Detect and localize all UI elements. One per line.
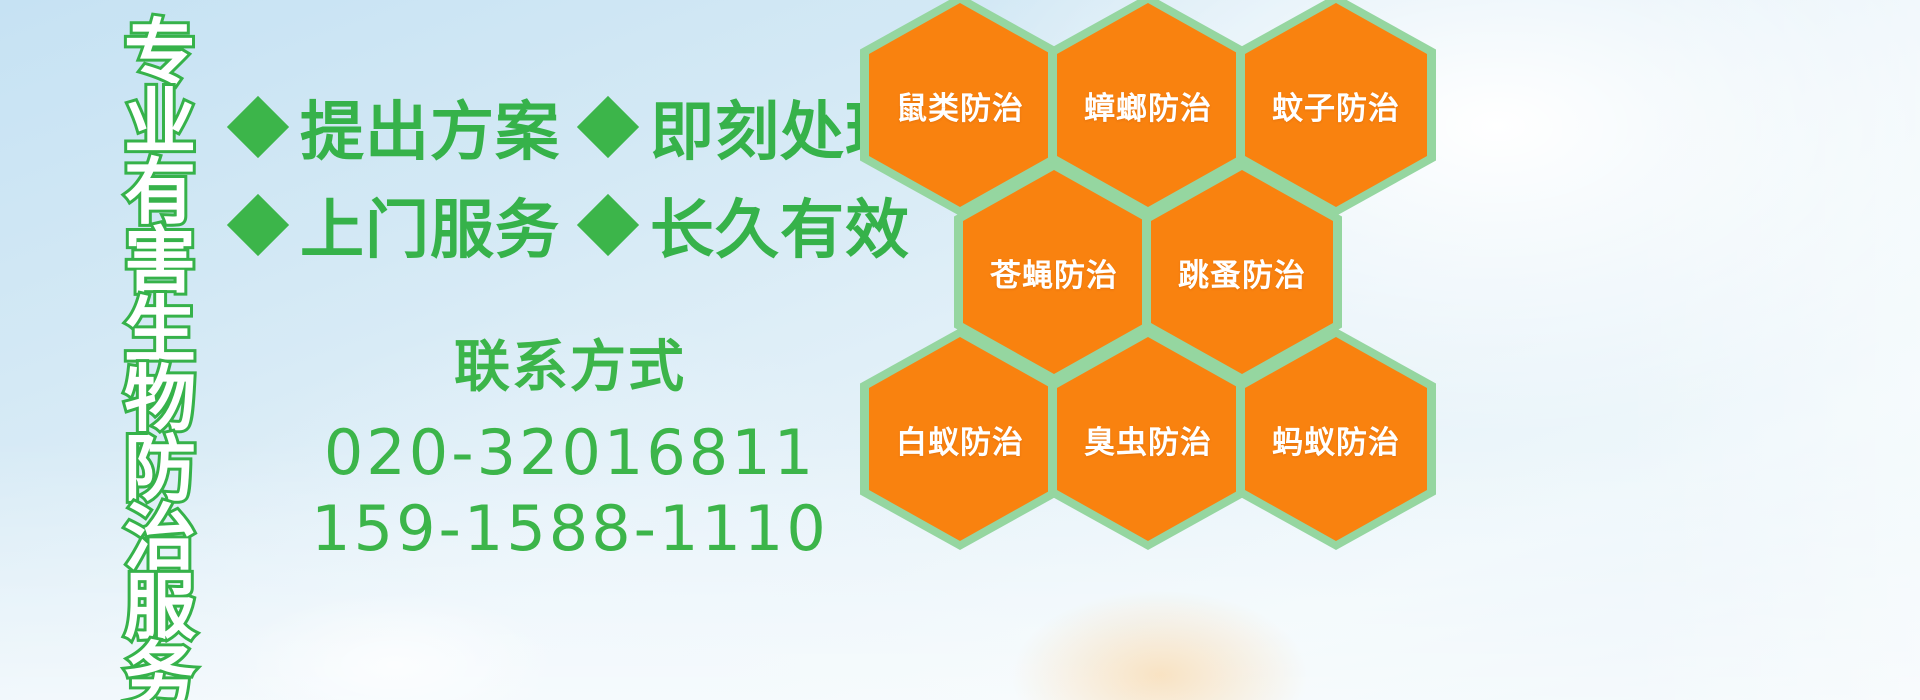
- service-hex-bedbug[interactable]: 臭虫防治: [1048, 328, 1248, 550]
- diamond-icon: [577, 194, 639, 256]
- diamond-icon: [577, 96, 639, 158]
- diamond-icon: [227, 96, 289, 158]
- vertical-title-char: 害: [124, 226, 196, 297]
- slogan-list: 提出方案 即刻处理 上门服务 长久有效: [236, 78, 876, 274]
- service-label: 鼠类防治: [896, 83, 1024, 128]
- vertical-title-char: 专: [124, 18, 196, 89]
- service-hex-termite[interactable]: 白蚁防治: [860, 328, 1060, 550]
- service-label: 白蚁防治: [896, 417, 1024, 462]
- vertical-title-char: 业: [124, 87, 196, 158]
- slogan-row: 上门服务 长久有效: [236, 176, 876, 274]
- vertical-title-char: 治: [124, 503, 196, 574]
- slogan-row: 提出方案 即刻处理: [236, 78, 876, 176]
- slogan-text: 上门服务: [300, 179, 560, 271]
- vertical-title: 专 业 有 害 生 物 防 治 服 务: [112, 18, 208, 700]
- vertical-title-char: 物: [124, 364, 196, 435]
- service-hex-ant[interactable]: 蚂蚁防治: [1236, 328, 1436, 550]
- service-label: 臭虫防治: [1084, 417, 1212, 462]
- phone-landline[interactable]: 020-32016811: [300, 415, 840, 491]
- service-label: 蚂蚁防治: [1272, 417, 1400, 462]
- diamond-icon: [227, 194, 289, 256]
- background-glow-left: [230, 590, 560, 700]
- vertical-title-char: 务: [124, 641, 196, 700]
- background-glow-right: [1620, 0, 1920, 700]
- pest-control-banner: 专 业 有 害 生 物 防 治 服 务 提出方案 即刻处理 上门服务 长久有效 …: [0, 0, 1920, 700]
- vertical-title-char: 服: [124, 572, 196, 643]
- service-label: 苍蝇防治: [990, 250, 1118, 295]
- service-label: 蚊子防治: [1272, 83, 1400, 128]
- contact-title: 联系方式: [300, 322, 840, 403]
- service-label: 蟑螂防治: [1084, 83, 1212, 128]
- service-hexagon-grid: 鼠类防治 蟑螂防治 蚊子防治 苍蝇防治 跳蚤防治 白蚁防治: [852, 0, 1472, 548]
- vertical-title-char: 生: [124, 295, 196, 366]
- vertical-title-char: 防: [124, 434, 196, 505]
- slogan-text: 提出方案: [300, 81, 560, 173]
- background-glow-orange: [1010, 590, 1310, 700]
- vertical-title-char: 有: [124, 157, 196, 228]
- contact-block: 联系方式 020-32016811 159-1588-1110: [300, 322, 840, 566]
- phone-mobile[interactable]: 159-1588-1110: [300, 491, 840, 567]
- service-label: 跳蚤防治: [1178, 250, 1306, 295]
